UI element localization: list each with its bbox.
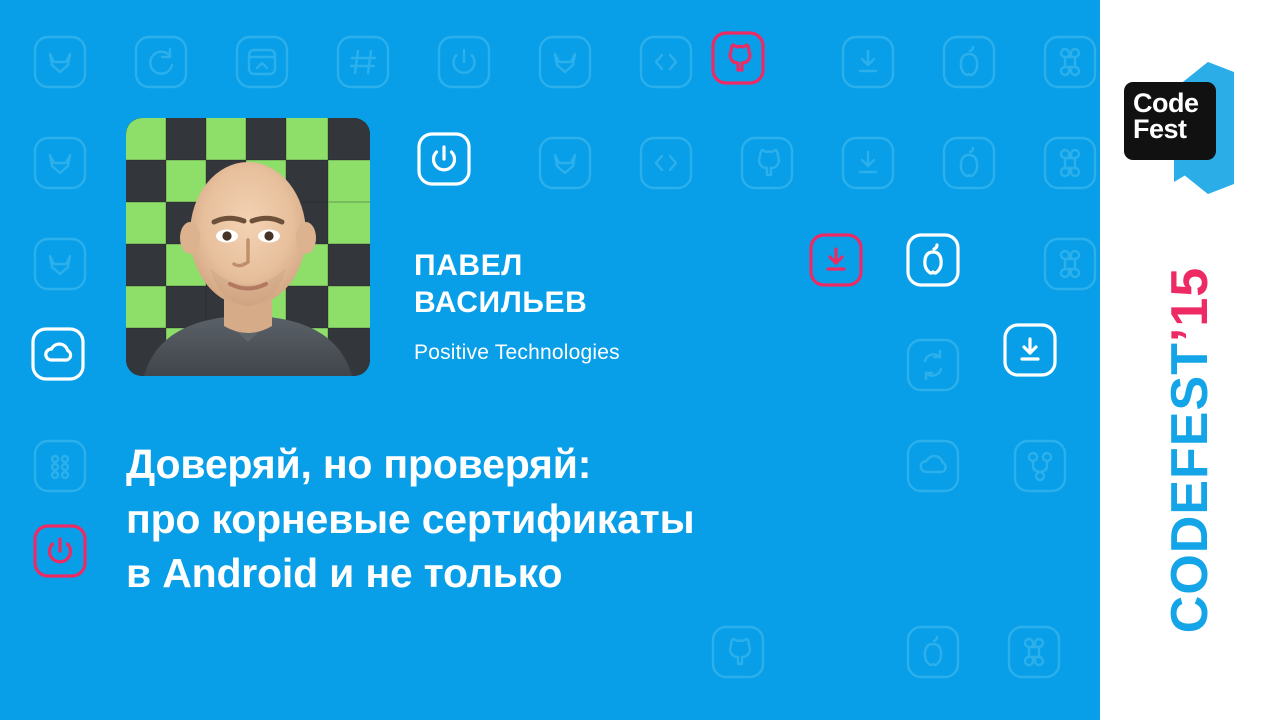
codefest-logo: Code Fest [1116, 58, 1242, 196]
code-icon [636, 32, 696, 92]
apple-icon [939, 32, 999, 92]
gitlab-icon [535, 32, 595, 92]
codefest-vertical-wordmark: CODEFEST’15 [1100, 220, 1280, 680]
power-icon [30, 521, 90, 581]
keypad-icon [30, 436, 90, 496]
codefest-wordmark-text: CODEFEST [1161, 342, 1219, 633]
apple-icon [903, 230, 963, 290]
github-icon [708, 622, 768, 682]
github-icon [708, 28, 768, 88]
gitlab-icon [30, 32, 90, 92]
speaker-block: ПАВЕЛ ВАСИЛЬЕВ Positive Technologies [414, 248, 834, 365]
talk-title: Доверяй, но проверяй: про корневые серти… [126, 437, 986, 601]
refresh-icon [131, 32, 191, 92]
download-icon [1000, 320, 1060, 380]
power-icon [414, 129, 474, 189]
gitlab-icon [535, 133, 595, 193]
gitlab-icon [30, 234, 90, 294]
power-icon [434, 32, 494, 92]
speaker-name: ПАВЕЛ ВАСИЛЬЕВ [414, 248, 834, 321]
speaker-photo [126, 118, 370, 376]
command-icon [1040, 234, 1100, 294]
command-icon [1040, 32, 1100, 92]
command-icon [1040, 133, 1100, 193]
sync-icon [903, 335, 963, 395]
command-icon [1004, 622, 1064, 682]
code-icon [636, 133, 696, 193]
apple-icon [939, 133, 999, 193]
hash-icon [333, 32, 393, 92]
download-icon [838, 133, 898, 193]
brand-rail: Code Fest CODEFEST’15 [1100, 0, 1280, 720]
apple-icon [903, 622, 963, 682]
slide-stage: ПАВЕЛ ВАСИЛЬЕВ Positive Technologies Дов… [0, 0, 1100, 720]
github-icon [737, 133, 797, 193]
codefest-year-text: ’15 [1161, 267, 1219, 342]
window-up-icon [232, 32, 292, 92]
codefest-logo-text: Code Fest [1133, 90, 1199, 142]
branch-icon [1010, 436, 1070, 496]
cloud-icon [28, 324, 88, 384]
slide-root: ПАВЕЛ ВАСИЛЬЕВ Positive Technologies Дов… [0, 0, 1280, 720]
download-icon [838, 32, 898, 92]
speaker-company: Positive Technologies [414, 341, 834, 365]
gitlab-icon [30, 133, 90, 193]
